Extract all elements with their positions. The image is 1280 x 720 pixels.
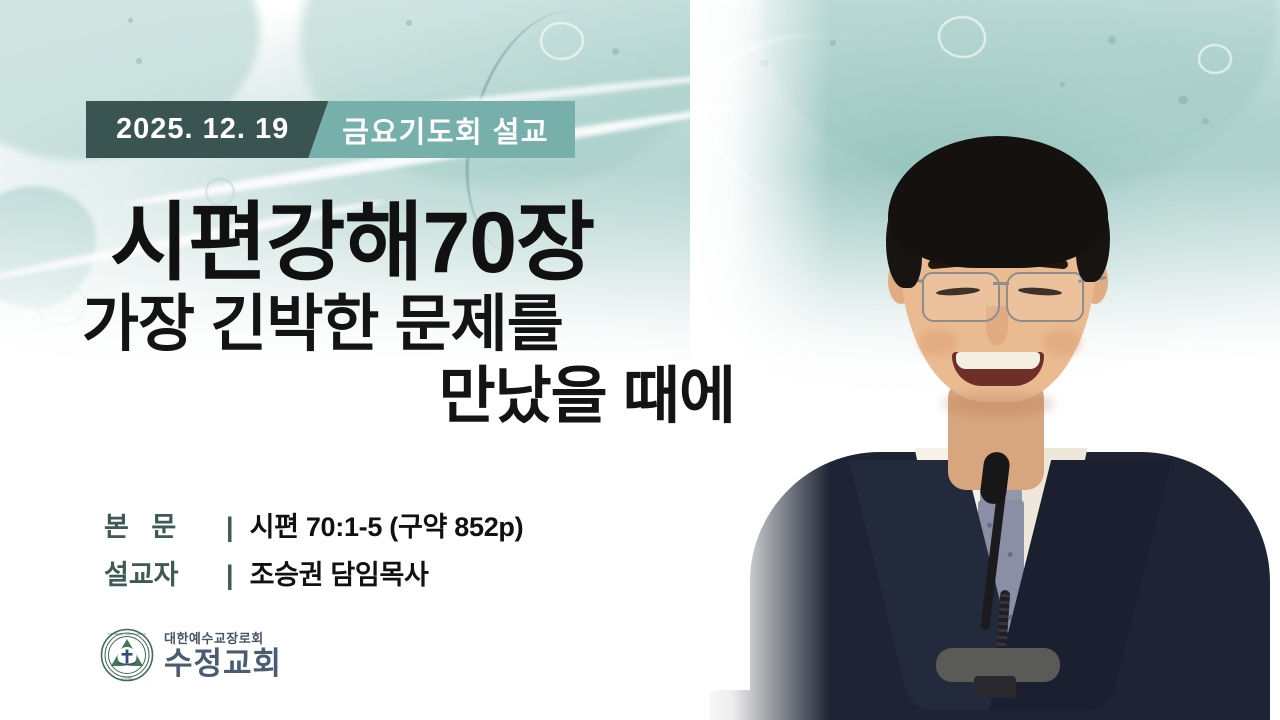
speck	[136, 58, 142, 64]
meta-label-preacher: 설교자	[104, 553, 226, 592]
speck	[406, 20, 412, 26]
church-name: 수정교회	[164, 648, 282, 679]
glasses-lens-left	[922, 272, 1000, 322]
headline-block: 시편강해70장 가장 긴박한 문제를 만났을 때에	[0, 198, 760, 433]
sermon-subtitle-line-1: 가장 긴박한 문제를	[0, 289, 760, 361]
sermon-subtitle-line-2: 만났을 때에	[0, 361, 760, 433]
meta-value-preacher: 조승권 담임목사	[250, 553, 429, 592]
church-logo-text: 대한예수교장로회 수정교회	[164, 632, 282, 679]
sermon-title-card: 2025. 12. 19 금요기도회 설교 시편강해70장 가장 긴박한 문제를…	[0, 0, 1280, 720]
wash-blob-middle	[300, 0, 720, 190]
meta-separator: |	[226, 512, 234, 543]
sermon-series-title: 시편강해70장	[0, 198, 760, 289]
chin-shadow	[942, 392, 1054, 416]
svg-text:THE PRESBYTERIAN CHURCH: THE PRESBYTERIAN CHURCH	[108, 632, 146, 636]
glasses-lens-right	[1006, 272, 1084, 322]
hair	[888, 136, 1108, 268]
meta-label-scripture: 본 문	[104, 505, 226, 544]
meta-row-preacher: 설교자 | 조승권 담임목사	[104, 553, 523, 592]
meta-separator: |	[226, 560, 234, 591]
glasses-bridge	[993, 282, 1009, 285]
church-logo: THE PRESBYTERIAN CHURCH IN KOREA 대한예수교장로…	[100, 628, 282, 682]
svg-text:IN KOREA: IN KOREA	[121, 676, 134, 680]
cheek-left	[918, 330, 958, 356]
header-banner: 2025. 12. 19 금요기도회 설교	[86, 101, 575, 158]
church-seal-icon: THE PRESBYTERIAN CHURCH IN KOREA	[100, 628, 154, 682]
cheek-right	[1042, 330, 1082, 356]
speck	[128, 18, 133, 23]
microphone-clip	[974, 676, 1016, 698]
sermon-meta: 본 문 | 시편 70:1-5 (구약 852p) 설교자 | 조승권 담임목사	[104, 505, 523, 601]
sermon-date: 2025. 12. 19	[86, 101, 329, 158]
speck	[612, 48, 619, 55]
meta-row-scripture: 본 문 | 시편 70:1-5 (구약 852p)	[104, 505, 523, 544]
speaker-photo	[690, 0, 1280, 720]
denomination-name: 대한예수교장로회	[164, 632, 282, 645]
teeth	[956, 352, 1040, 369]
service-type-label: 금요기도회 설교	[308, 101, 575, 158]
meta-value-scripture: 시편 70:1-5 (구약 852p)	[250, 505, 524, 544]
bubble-ring-a	[540, 22, 584, 60]
